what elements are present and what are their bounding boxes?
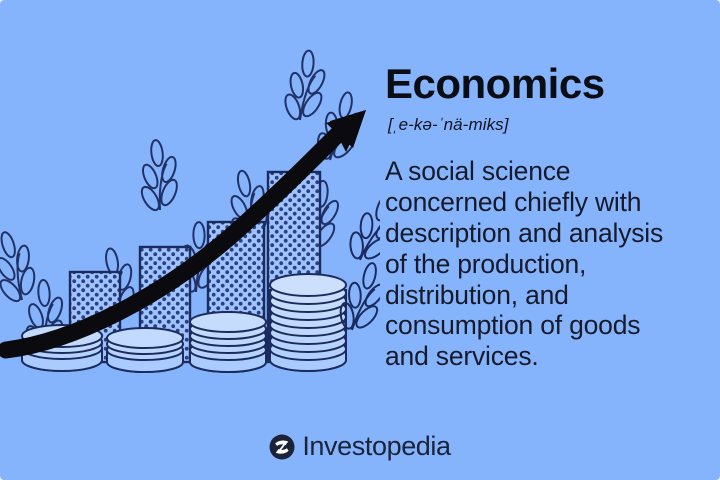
plant-sprig-icon [136, 139, 182, 214]
investopedia-lightning-circle-icon [269, 434, 295, 460]
page-title: Economics [385, 62, 685, 106]
plant-sprig-icon [340, 187, 380, 271]
definition-block: Economics [ˌe-kə-ˈnä-miks] A social scie… [385, 62, 685, 372]
definition-text: A social science concerned chiefly with … [385, 156, 685, 372]
pronunciation-text: [ˌe-kə-ˈnä-miks] [388, 115, 685, 135]
growth-bar-chart-with-coins-illustration [0, 0, 380, 440]
coin-stack-2 [107, 328, 183, 372]
brand-wordmark: Investopedia [302, 431, 450, 462]
coin-stack-4 [270, 274, 346, 371]
coin-stack-3 [190, 312, 266, 372]
infographic-card: Economics [ˌe-kə-ˈnä-miks] A social scie… [0, 0, 720, 480]
brand-logo: Investopedia [0, 431, 720, 462]
plant-sprig-icon [0, 227, 43, 308]
plant-sprig-icon [279, 47, 331, 125]
